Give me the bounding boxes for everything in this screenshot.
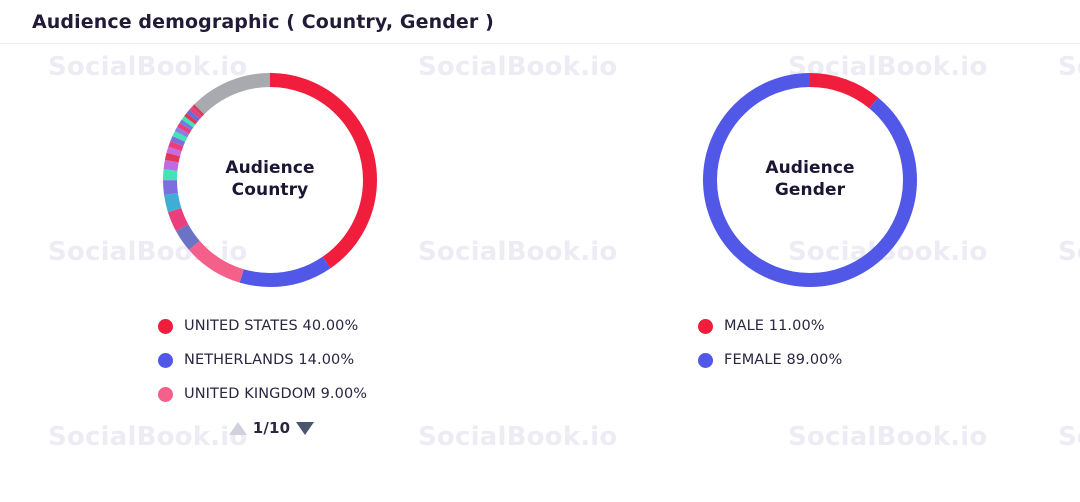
legend-color-dot-icon xyxy=(698,353,713,368)
gender-legend-item[interactable]: MALE 11.00% xyxy=(698,309,928,343)
legend-color-dot-icon xyxy=(158,353,173,368)
gender-legend-item[interactable]: FEMALE 89.00% xyxy=(698,343,928,377)
triangle-up-icon[interactable] xyxy=(229,422,247,435)
pager-position-label: 1/10 xyxy=(253,419,291,437)
legend-item-label: FEMALE 89.00% xyxy=(724,352,842,368)
legend-item-label: MALE 11.00% xyxy=(724,318,825,334)
gender-donut-svg xyxy=(695,65,925,295)
gender-legend: MALE 11.00%FEMALE 89.00% xyxy=(698,309,928,377)
legend-color-dot-icon xyxy=(158,319,173,334)
card-header: Audience demographic ( Country, Gender ) xyxy=(0,0,1080,44)
audience-demographic-card: SocialBook.ioSocialBook.ioSocialBook.ioS… xyxy=(0,0,1080,502)
legend-item-label: UNITED KINGDOM 9.00% xyxy=(184,386,367,402)
legend-color-dot-icon xyxy=(158,387,173,402)
country-legend-pager: 1/10 xyxy=(229,413,315,443)
triangle-down-icon[interactable] xyxy=(296,422,314,435)
audience-country-panel: Audience Country UNITED STATES 40.00%NET… xyxy=(0,45,540,502)
donut-segment xyxy=(710,80,910,280)
country-donut-svg xyxy=(155,65,385,295)
country-legend: UNITED STATES 40.00%NETHERLANDS 14.00%UN… xyxy=(158,309,388,411)
audience-gender-panel: Audience Gender MALE 11.00%FEMALE 89.00% xyxy=(540,45,1080,502)
country-legend-item[interactable]: UNITED STATES 40.00% xyxy=(158,309,388,343)
legend-item-label: UNITED STATES 40.00% xyxy=(184,318,358,334)
legend-item-label: NETHERLANDS 14.00% xyxy=(184,352,354,368)
card-body: Audience Country UNITED STATES 40.00%NET… xyxy=(0,45,1080,502)
page-title: Audience demographic ( Country, Gender ) xyxy=(32,11,494,33)
country-legend-item[interactable]: NETHERLANDS 14.00% xyxy=(158,343,388,377)
country-legend-item[interactable]: UNITED KINGDOM 9.00% xyxy=(158,377,388,411)
legend-color-dot-icon xyxy=(698,319,713,334)
audience-country-donut: Audience Country xyxy=(155,65,385,295)
audience-gender-donut: Audience Gender xyxy=(695,65,925,295)
